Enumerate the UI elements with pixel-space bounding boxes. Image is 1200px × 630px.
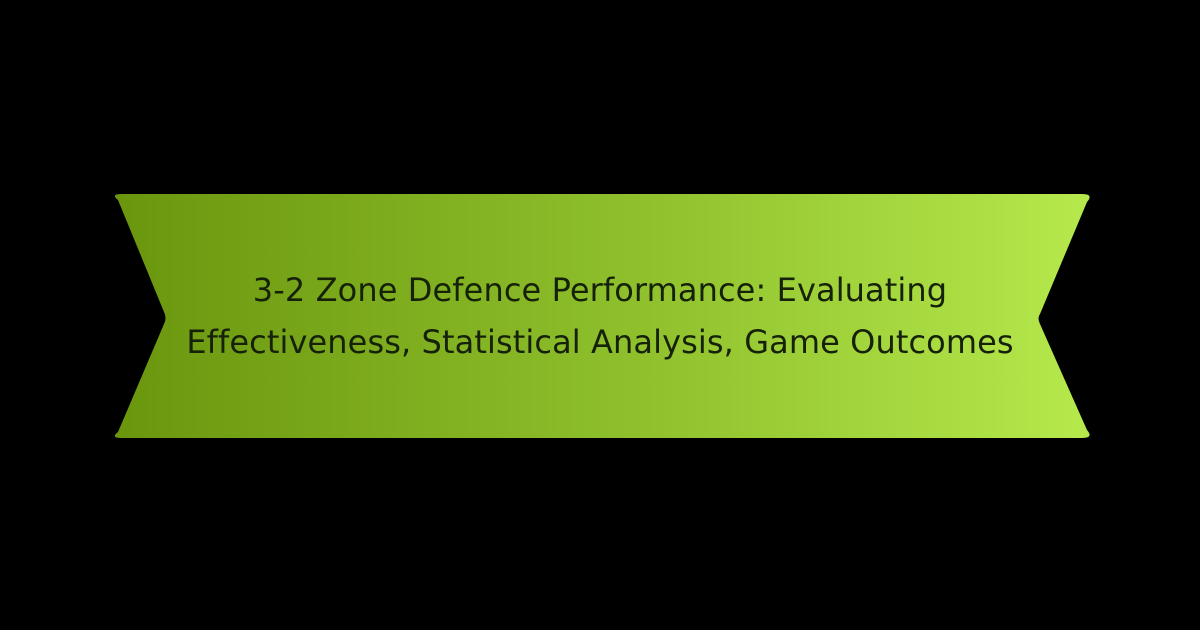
title-ribbon: 3-2 Zone Defence Performance: Evaluating… <box>108 194 1092 438</box>
social-card-canvas: 3-2 Zone Defence Performance: Evaluating… <box>0 0 1200 630</box>
ribbon-shape-path <box>115 194 1090 438</box>
